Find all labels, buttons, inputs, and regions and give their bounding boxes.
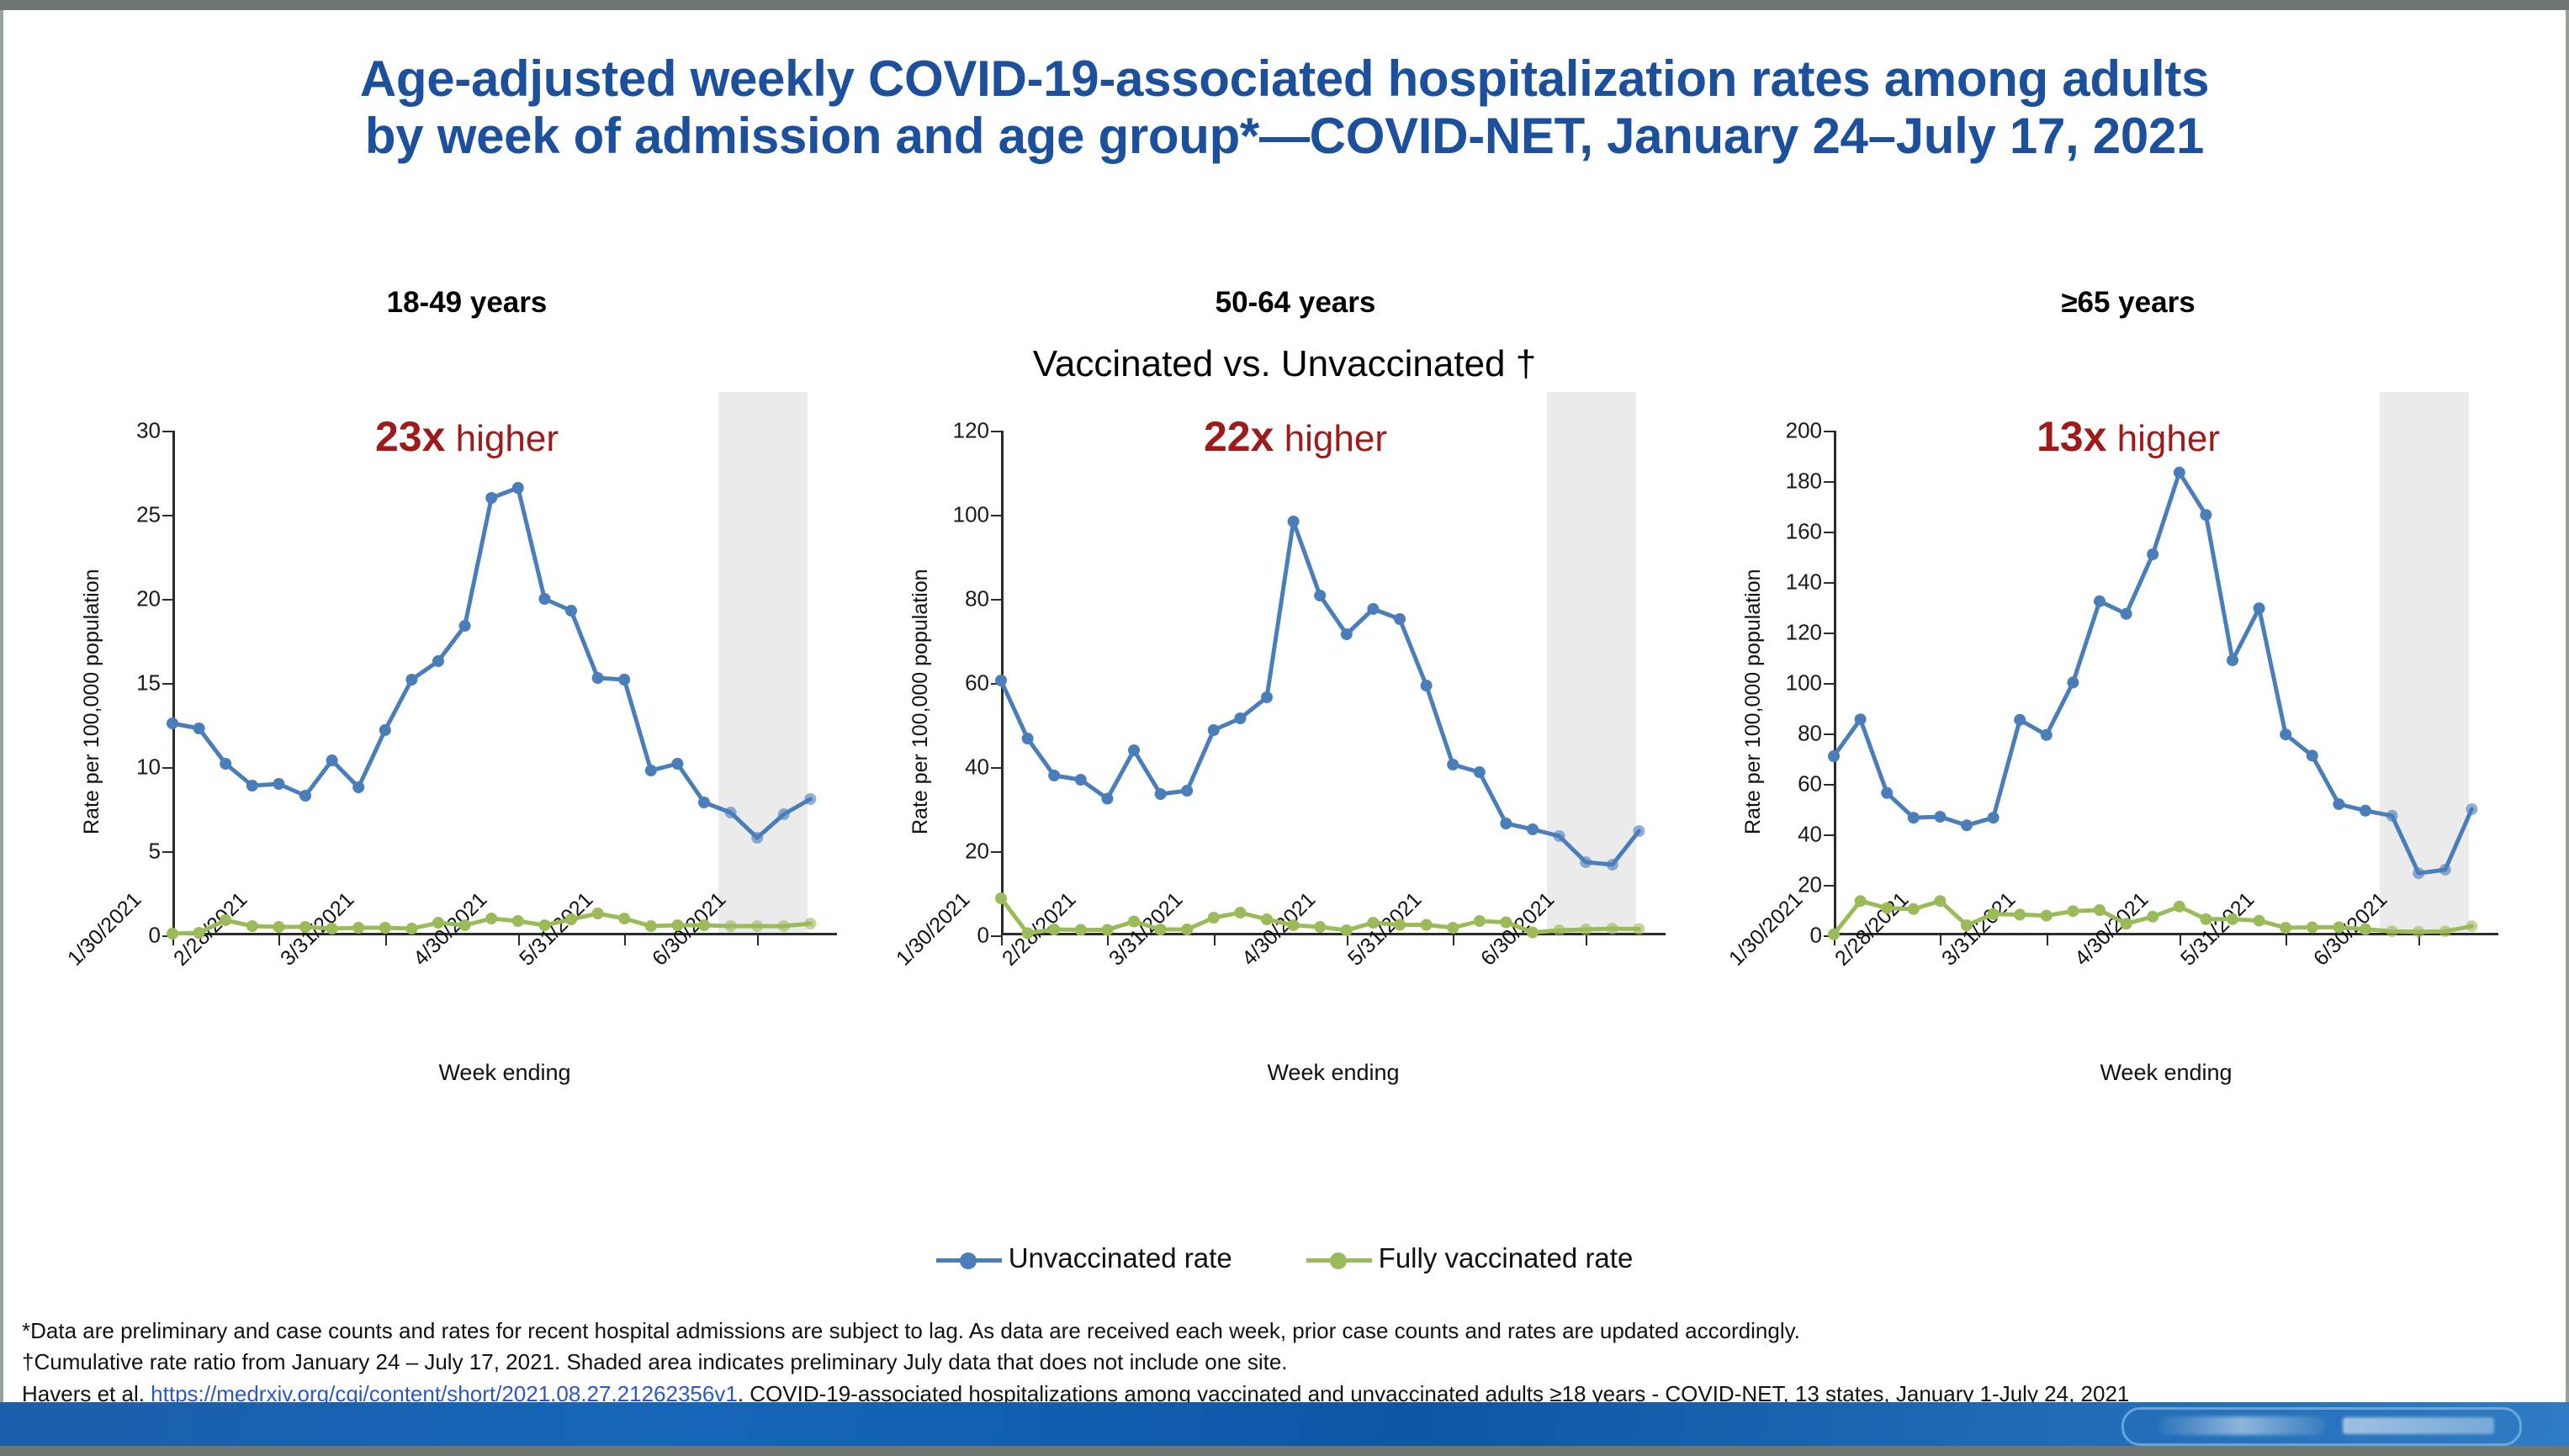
data-point (1934, 895, 1946, 907)
data-point (299, 790, 311, 802)
data-point (995, 675, 1007, 686)
x-axis-tick-mark (1001, 935, 1003, 945)
data-point (1421, 680, 1433, 691)
series-plot (1001, 431, 1666, 935)
data-point (2466, 803, 2477, 815)
data-point (2280, 728, 2291, 740)
legend-item-unvaccinated[interactable]: Unvaccinated rate (936, 1242, 1232, 1274)
data-point (2439, 864, 2451, 876)
data-point (299, 921, 311, 933)
data-point (1881, 903, 1893, 914)
data-point (2386, 925, 2398, 937)
data-point (2121, 918, 2132, 929)
y-axis-tick-label: 20 (136, 586, 161, 612)
data-point (352, 922, 364, 934)
series-plot (1834, 431, 2498, 935)
data-point (592, 908, 604, 919)
data-point (405, 674, 417, 686)
data-point (1181, 785, 1193, 797)
data-point (645, 920, 657, 932)
x-axis-tick-mark (2047, 935, 2048, 945)
data-point (778, 920, 790, 932)
data-point (1261, 913, 1273, 925)
y-axis-tick-label: 0 (149, 923, 161, 949)
x-axis-label: Week ending (172, 1060, 837, 1086)
x-axis-tick-label: 1/30/2021 (1724, 887, 1808, 971)
data-point (1527, 927, 1539, 939)
data-point (2439, 925, 2451, 937)
data-point (326, 754, 338, 766)
y-axis-tick-mark (1824, 633, 1834, 634)
data-point (1447, 922, 1459, 934)
data-point (1367, 603, 1379, 615)
x-axis-tick-mark (1214, 935, 1216, 945)
data-point (2254, 915, 2265, 927)
data-point (1208, 724, 1220, 736)
data-point (2041, 910, 2053, 922)
data-point (592, 672, 604, 684)
data-point (1022, 928, 1034, 940)
y-axis-tick-label: 0 (977, 923, 989, 949)
data-point (1500, 818, 1512, 829)
y-axis-tick-label: 10 (136, 754, 161, 781)
data-point (2307, 921, 2318, 933)
data-point (2041, 729, 2053, 741)
y-axis-tick-mark (991, 851, 1001, 853)
data-point (1048, 770, 1060, 781)
x-axis-tick-label: 1/30/2021 (892, 887, 975, 971)
data-point (698, 919, 710, 931)
data-point (1367, 917, 1379, 929)
y-axis-tick-label: 200 (1786, 418, 1822, 444)
data-point (1447, 759, 1459, 770)
y-axis-tick-label: 5 (149, 839, 161, 865)
data-point (2200, 509, 2211, 521)
series-line-unvaccinated (1834, 473, 2471, 873)
data-point (1988, 908, 2000, 920)
data-point (2227, 913, 2238, 925)
data-point (725, 920, 737, 932)
data-point (485, 913, 497, 924)
footnotes: *Data are preliminary and case counts an… (22, 1316, 2554, 1410)
y-axis-tick-mark (1824, 834, 1834, 836)
data-point (1607, 923, 1618, 934)
data-point (1855, 895, 1867, 907)
data-point (698, 797, 710, 808)
x-axis-label: Week ending (1834, 1060, 2498, 1086)
chart-panel-18-49: 18-49 years23x higher051015202530Rate pe… (46, 262, 887, 1255)
data-point (512, 915, 524, 927)
cdc-logo (2121, 1407, 2522, 1446)
data-point (1961, 819, 1973, 831)
data-point (1234, 907, 1246, 919)
data-point (1394, 613, 1406, 625)
x-axis-label: Week ending (1001, 1060, 1666, 1086)
data-point (2147, 548, 2158, 560)
y-axis-tick-mark (162, 851, 172, 853)
y-axis-label: Rate per 100,000 population (80, 569, 104, 834)
y-axis-tick-mark (162, 515, 172, 516)
series-line-unvaccinated (1001, 522, 1639, 865)
y-axis-tick-label: 80 (965, 586, 989, 612)
data-point (804, 793, 816, 805)
data-point (1155, 788, 1167, 800)
data-point (1828, 750, 1840, 762)
data-point (1580, 924, 1592, 935)
data-point (2466, 920, 2477, 932)
x-axis-tick-mark (2286, 935, 2287, 945)
data-point (193, 927, 205, 939)
data-point (246, 920, 258, 932)
x-axis-tick-mark (278, 935, 280, 945)
data-point (2333, 798, 2344, 810)
data-point (220, 914, 231, 926)
data-point (459, 919, 471, 931)
data-point (995, 892, 1007, 904)
y-axis-tick-mark (991, 599, 1001, 601)
data-point (2121, 608, 2132, 620)
y-axis-tick-mark (1824, 582, 1834, 584)
data-point (1527, 823, 1539, 835)
y-axis-label: Rate per 100,000 population (908, 569, 933, 834)
data-point (1155, 924, 1167, 935)
data-point (618, 674, 630, 686)
page-title: Age-adjusted weekly COVID-19-associated … (0, 50, 2569, 166)
data-point (193, 723, 205, 734)
chart-panel-50-64: 50-64 years22x higher020406080100120Rate… (875, 262, 1716, 1255)
y-axis-tick-mark (1824, 784, 1834, 786)
y-axis-tick-label: 30 (136, 418, 161, 444)
plot-area: 020406080100120140160180200Rate per 100,… (1834, 431, 2498, 935)
x-axis-tick-mark (2180, 935, 2181, 945)
data-point (1988, 812, 2000, 823)
data-point (725, 807, 737, 818)
data-point (273, 778, 284, 790)
data-point (1101, 793, 1113, 805)
data-point (1554, 830, 1565, 842)
y-axis-tick-mark (1824, 481, 1834, 483)
x-axis-tick-mark (757, 935, 759, 945)
y-axis-tick-label: 60 (1798, 771, 1822, 797)
footnote-data-preliminary: *Data are preliminary and case counts an… (22, 1316, 2554, 1347)
data-point (2094, 596, 2106, 607)
legend-swatch-icon (1306, 1251, 1372, 1269)
y-axis-tick-label: 120 (953, 418, 989, 444)
y-axis-tick-mark (1824, 683, 1834, 685)
y-axis-tick-mark (162, 767, 172, 769)
y-axis-tick-label: 20 (1798, 872, 1822, 898)
data-point (565, 605, 577, 617)
y-axis-tick-mark (991, 935, 1001, 937)
data-point (379, 922, 391, 934)
plot-area: 020406080100120Rate per 100,000 populati… (1001, 431, 1666, 935)
y-axis-tick-label: 40 (1798, 822, 1822, 848)
data-point (167, 717, 178, 729)
data-point (1934, 811, 1946, 823)
y-axis-tick-mark (162, 431, 172, 432)
data-point (1048, 924, 1060, 935)
data-point (2254, 602, 2265, 614)
data-point (1500, 917, 1512, 929)
data-point (1261, 691, 1273, 703)
data-point (326, 923, 338, 934)
data-point (2094, 904, 2106, 916)
cdc-logo-wordmark (2343, 1417, 2494, 1434)
data-point (2307, 749, 2318, 761)
y-axis-tick-mark (991, 431, 1001, 432)
y-axis-tick-mark (1824, 885, 1834, 887)
data-point (1421, 919, 1433, 931)
data-point (2413, 926, 2424, 938)
data-point (2360, 924, 2371, 935)
data-point (1881, 787, 1893, 799)
data-point (512, 482, 524, 494)
data-point (1607, 859, 1618, 871)
y-axis-tick-label: 100 (1786, 670, 1822, 696)
legend-label: Unvaccinated rate (1009, 1242, 1232, 1273)
x-axis-tick-mark (1453, 935, 1454, 945)
legend-item-fully-vaccinated[interactable]: Fully vaccinated rate (1306, 1242, 1634, 1274)
data-point (1961, 919, 1973, 931)
y-axis-tick-mark (162, 683, 172, 685)
data-point (804, 918, 816, 929)
x-axis-tick-mark (1347, 935, 1348, 945)
x-axis-tick-label: 1/30/2021 (63, 887, 146, 971)
y-axis-tick-label: 160 (1786, 519, 1822, 545)
chart-legend: Unvaccinated rateFully vaccinated rate (0, 1242, 2569, 1274)
legend-swatch-icon (936, 1251, 1002, 1269)
data-point (1341, 924, 1353, 936)
data-point (485, 492, 497, 504)
y-axis-tick-mark (162, 599, 172, 601)
series-plot (172, 431, 837, 935)
x-axis-tick-mark (1586, 935, 1587, 945)
y-axis-tick-label: 80 (1798, 721, 1822, 747)
data-point (1908, 812, 1920, 823)
data-point (405, 923, 417, 934)
legend-label: Fully vaccinated rate (1379, 1242, 1634, 1273)
data-point (1554, 924, 1565, 936)
y-axis-tick-mark (991, 767, 1001, 769)
data-point (1474, 766, 1486, 778)
y-axis-tick-label: 100 (953, 502, 989, 528)
chart-title: ≥65 years (1708, 286, 2549, 320)
data-point (1341, 628, 1353, 640)
data-point (1314, 590, 1326, 601)
cdc-logo-mark (2158, 1416, 2326, 1435)
y-axis-tick-mark (1824, 733, 1834, 735)
footnote-rate-ratio: †Cumulative rate ratio from January 24 –… (22, 1347, 2554, 1378)
data-point (1075, 774, 1087, 786)
y-axis-tick-label: 0 (1810, 923, 1822, 949)
data-point (1633, 924, 1645, 935)
data-point (2014, 714, 2026, 726)
data-point (751, 920, 763, 932)
data-point (432, 655, 444, 667)
data-point (1314, 921, 1326, 933)
data-point (1633, 825, 1645, 837)
series-line-unvaccinated (172, 488, 810, 838)
data-point (2360, 805, 2371, 817)
data-point (2014, 908, 2026, 920)
data-point (1288, 919, 1300, 931)
data-point (2413, 867, 2424, 879)
data-point (2174, 467, 2185, 479)
data-point (1101, 924, 1113, 936)
data-point (2333, 921, 2344, 933)
data-point (379, 724, 391, 736)
chart-title: 50-64 years (875, 286, 1716, 320)
data-point (1128, 916, 1140, 928)
data-point (2200, 913, 2211, 925)
data-point (1022, 733, 1034, 744)
x-axis-tick-mark (1940, 935, 1941, 945)
y-axis-tick-label: 180 (1786, 469, 1822, 495)
y-axis-tick-label: 25 (136, 502, 161, 528)
data-point (565, 913, 577, 925)
data-point (2067, 676, 2079, 688)
data-point (1075, 924, 1087, 936)
x-axis-tick-mark (518, 935, 520, 945)
data-point (352, 781, 364, 793)
chart-panel-65-plus: ≥65 years13x higher020406080100120140160… (1708, 262, 2549, 1255)
title-line-2: by week of admission and age group*—COVI… (0, 108, 2569, 165)
data-point (1288, 516, 1300, 527)
y-axis-tick-label: 140 (1786, 569, 1822, 596)
data-point (778, 808, 790, 820)
x-axis-tick-mark (385, 935, 387, 945)
data-point (751, 832, 763, 844)
data-point (432, 917, 444, 929)
data-point (538, 919, 550, 931)
data-point (1208, 912, 1220, 924)
y-axis-label: Rate per 100,000 population (1741, 569, 1766, 834)
data-point (1234, 712, 1246, 724)
data-point (273, 921, 284, 933)
data-point (2280, 922, 2291, 934)
y-axis-tick-label: 20 (965, 839, 989, 865)
y-axis-tick-label: 120 (1786, 620, 1822, 646)
x-axis-tick-mark (624, 935, 626, 945)
title-line-1: Age-adjusted weekly COVID-19-associated … (0, 50, 2569, 108)
y-axis-tick-label: 60 (965, 670, 989, 696)
data-point (1855, 713, 1867, 725)
data-point (671, 919, 683, 931)
data-point (1828, 929, 1840, 940)
data-point (671, 758, 683, 770)
data-point (1394, 919, 1406, 931)
x-axis-tick-mark (1107, 935, 1109, 945)
data-point (2386, 810, 2398, 822)
data-point (1580, 856, 1592, 868)
data-point (1474, 915, 1486, 927)
y-axis-tick-mark (991, 515, 1001, 516)
data-point (246, 780, 258, 792)
data-point (1128, 744, 1140, 756)
slide-canvas: Age-adjusted weekly COVID-19-associated … (0, 10, 2569, 1446)
data-point (2227, 654, 2238, 666)
data-point (645, 765, 657, 776)
data-point (2174, 901, 2185, 913)
data-point (618, 913, 630, 924)
data-point (167, 928, 178, 940)
data-point (459, 620, 471, 632)
data-point (1908, 903, 1920, 915)
data-point (220, 758, 231, 770)
data-point (1181, 924, 1193, 935)
footer-bar (0, 1402, 2569, 1446)
plot-area: 051015202530Rate per 100,000 population1… (172, 431, 837, 935)
y-axis-tick-mark (1824, 532, 1834, 533)
y-axis-tick-label: 40 (965, 754, 989, 781)
data-point (538, 593, 550, 605)
data-point (2147, 911, 2158, 923)
charts-row: 18-49 years23x higher051015202530Rate pe… (0, 262, 2569, 1255)
y-axis-tick-mark (1824, 431, 1834, 432)
data-point (2067, 905, 2079, 917)
chart-title: 18-49 years (46, 286, 887, 320)
y-axis-tick-label: 15 (136, 670, 161, 696)
